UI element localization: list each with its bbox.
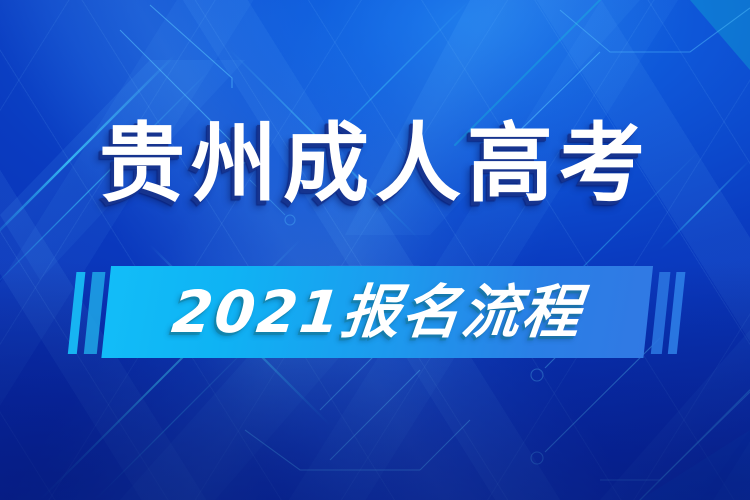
subtitle-text: 2021报名流程 [169,283,585,341]
promo-banner-image: 贵州成人高考 2021报名流程 [0,0,750,500]
accent-bar-right-inner [651,272,671,354]
headline-title: 贵州成人高考 [99,121,651,207]
subtitle-text-container: 2021报名流程 [101,266,653,358]
accent-bar-right-outer [668,272,686,354]
subtitle-banner: 2021报名流程 [0,266,750,362]
headline-container: 贵州成人高考 [0,104,750,224]
accent-bar-left-outer [68,272,86,354]
vignette-overlay [0,0,750,500]
